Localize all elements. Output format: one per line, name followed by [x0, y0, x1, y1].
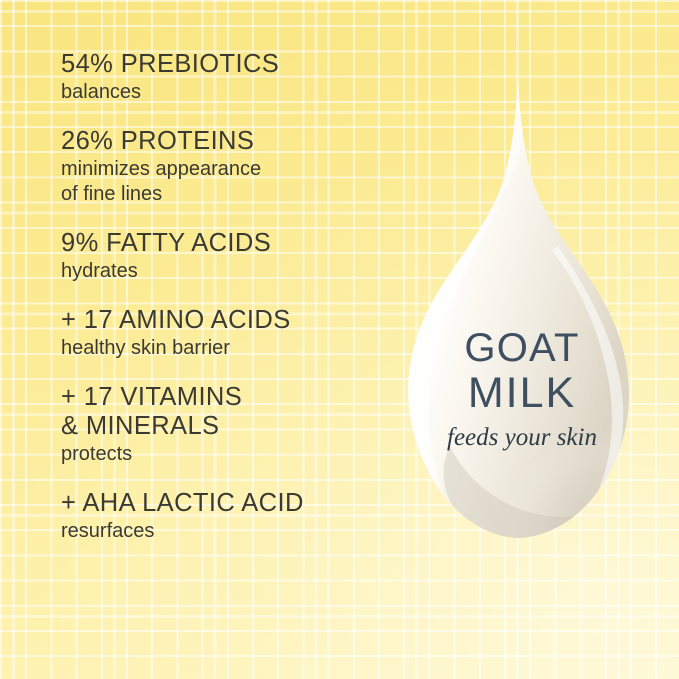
ingredient-benefit: protects: [61, 442, 391, 467]
ingredient-title: 26% PROTEINS: [61, 127, 391, 156]
ingredient-benefit: hydrates: [61, 259, 391, 284]
ingredient-title: + 17 VITAMINS & MINERALS: [61, 383, 391, 441]
product-infographic: 54% PREBIOTICS balances 26% PROTEINS min…: [0, 0, 679, 679]
milk-droplet-icon: [392, 58, 652, 558]
ingredient-title: 54% PREBIOTICS: [61, 50, 391, 79]
list-item: 9% FATTY ACIDS hydrates: [61, 229, 391, 284]
ingredient-title: 9% FATTY ACIDS: [61, 229, 391, 258]
ingredient-list: 54% PREBIOTICS balances 26% PROTEINS min…: [61, 50, 391, 544]
list-item: + 17 AMINO ACIDS healthy skin barrier: [61, 306, 391, 361]
ingredient-benefit: resurfaces: [61, 519, 391, 544]
ingredient-benefit: balances: [61, 80, 391, 105]
ingredient-benefit: healthy skin barrier: [61, 336, 391, 361]
list-item: 54% PREBIOTICS balances: [61, 50, 391, 105]
list-item: 26% PROTEINS minimizes appearance of fin…: [61, 127, 391, 207]
ingredient-title: + 17 AMINO ACIDS: [61, 306, 391, 335]
list-item: + 17 VITAMINS & MINERALS protects: [61, 383, 391, 467]
ingredient-benefit: minimizes appearance of fine lines: [61, 157, 391, 207]
list-item: + AHA LACTIC ACID resurfaces: [61, 489, 391, 544]
ingredient-title: + AHA LACTIC ACID: [61, 489, 391, 518]
